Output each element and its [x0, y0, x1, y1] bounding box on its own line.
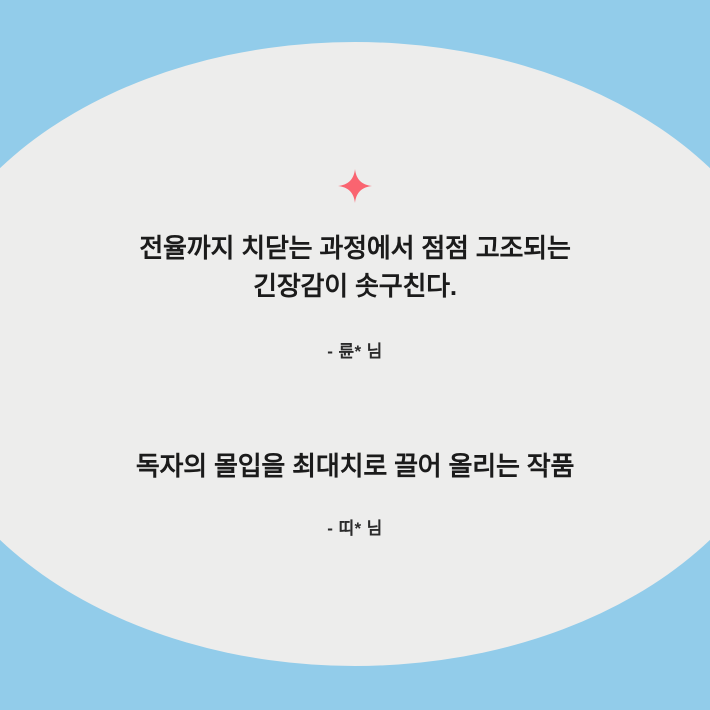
review-quote-1: 전율까지 치닫는 과정에서 점점 고조되는 긴장감이 솟구친다.	[0, 230, 710, 305]
review-item-1: 전율까지 치닫는 과정에서 점점 고조되는 긴장감이 솟구친다. - 륜* 님	[0, 230, 710, 362]
review-quote-1-line-2: 긴장감이 솟구친다.	[40, 268, 670, 306]
review-attribution-2: - 띠* 님	[0, 514, 710, 539]
review-card: 전율까지 치닫는 과정에서 점점 고조되는 긴장감이 솟구친다. - 륜* 님 …	[0, 0, 710, 710]
review-quote-2: 독자의 몰입을 최대치로 끌어 올리는 작품	[0, 448, 710, 486]
review-quote-1-line-1: 전율까지 치닫는 과정에서 점점 고조되는	[40, 230, 670, 268]
card-content: 전율까지 치닫는 과정에서 점점 고조되는 긴장감이 솟구친다. - 륜* 님 …	[0, 0, 710, 710]
review-attribution-1: - 륜* 님	[0, 337, 710, 362]
review-quote-2-line-1: 독자의 몰입을 최대치로 끌어 올리는 작품	[40, 448, 670, 486]
review-item-2: 독자의 몰입을 최대치로 끌어 올리는 작품 - 띠* 님	[0, 448, 710, 539]
sparkle-decoration	[0, 169, 710, 203]
four-pointed-star-icon	[338, 169, 372, 203]
